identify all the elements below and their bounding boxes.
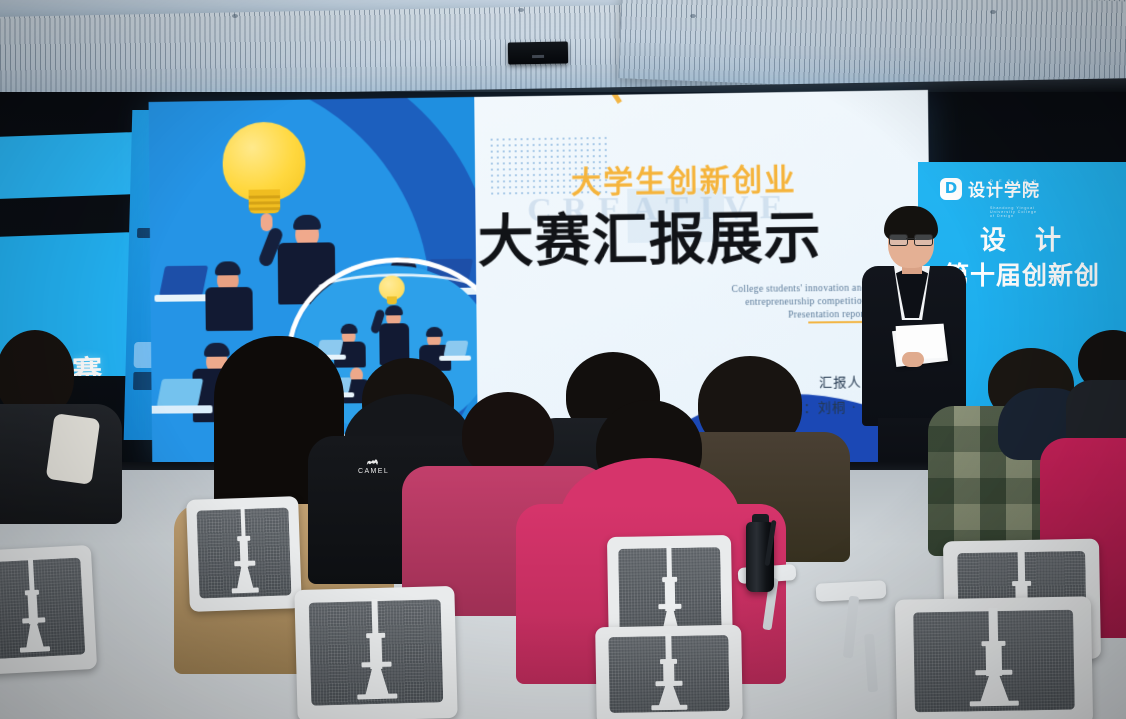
camel-brand-text: CAMEL [358, 468, 389, 475]
attendee-far-left [0, 330, 112, 480]
eiffel-tower-icon [354, 598, 399, 713]
lightbulb-icon [222, 121, 306, 213]
chair-front-center[interactable] [595, 625, 743, 719]
ceiling-fixture-dot [232, 14, 238, 18]
chair-back-left[interactable] [186, 496, 302, 612]
eiffel-tower-icon [228, 506, 260, 603]
ceiling-fixture-dot [690, 14, 696, 18]
lecture-hall-photo: 院赛复赛 [0, 0, 1126, 719]
presenter-glasses-icon [889, 234, 933, 244]
presenter-hand [902, 352, 924, 367]
logo-pinyin-top: D E S I G N [990, 178, 1038, 183]
logo-mark-letter: D [945, 181, 957, 196]
illustration-figure-laptop-left [183, 259, 272, 329]
chair-right-front[interactable] [895, 596, 1093, 719]
eiffel-tower-icon [649, 634, 688, 719]
ceiling-fixture-dot [518, 8, 524, 12]
illustration-figure-circle-center [373, 305, 415, 365]
logo-pinyin-bottom: Shandong Yingcai University College of D… [990, 206, 1040, 218]
eiffel-tower-icon [14, 557, 51, 665]
eiffel-tower-icon [968, 608, 1021, 719]
slide-subtitle-english: College students' innovation and entrepr… [674, 283, 867, 324]
slide-title-primary: 大赛汇报展示 [477, 192, 822, 277]
chair-front-center-left[interactable] [294, 586, 457, 719]
ceiling-fixture-dot [990, 10, 996, 14]
ceiling-speaker-icon [508, 41, 568, 64]
right-panel-heading-primary: 设 计 [980, 220, 1071, 257]
attendee-far-left-scarf [46, 413, 101, 485]
chair-far-left[interactable] [0, 545, 97, 675]
illustration-mini-lightbulb-icon [379, 275, 405, 305]
